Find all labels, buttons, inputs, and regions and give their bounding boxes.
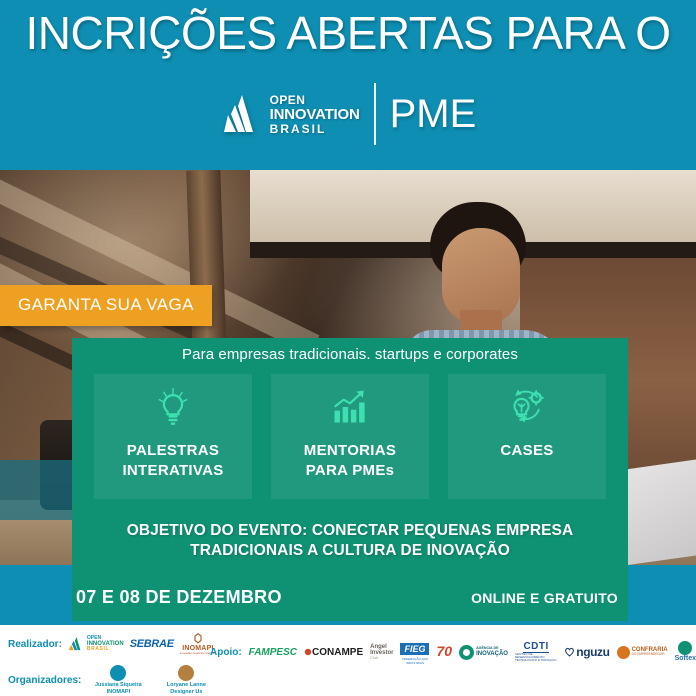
feature-label-line1: CASES bbox=[500, 442, 553, 459]
feature-cards: PALESTRAS INTERATIVAS MENTORI bbox=[72, 374, 628, 499]
fieg-text: FIEG bbox=[400, 643, 429, 655]
brand-lockup: OPEN INNOVATION BRASIL PME bbox=[0, 83, 696, 145]
nguzu-text: nguzu bbox=[576, 645, 609, 659]
objective-line1: OBJETIVO DO EVENTO: CONECTAR PEQUENAS EM… bbox=[127, 522, 574, 539]
logo-fieg: FIEG FEDERAÇÃO DAS INDÚSTRIAS bbox=[400, 639, 429, 665]
brand-line-1: OPEN bbox=[270, 94, 360, 106]
organizer-item: Jussiana Siqueira INOMAPI bbox=[87, 665, 149, 696]
event-mode: ONLINE E GRATUITO bbox=[471, 590, 618, 606]
logo-open-innovation-brasil: OPEN INNOVATION BRASIL bbox=[68, 636, 124, 652]
realizador-row: Realizador: OPEN INNOVATION BRASIL SEBRA… bbox=[8, 633, 216, 655]
feature-label-line2: INTERATIVAS bbox=[122, 462, 223, 479]
confraria-wordmark: CONFRARIA DO EMPREENDEDOR bbox=[632, 647, 668, 657]
conampe-text: CONAMPE bbox=[312, 647, 363, 658]
organizer-name: Jussiana Siqueira INOMAPI bbox=[95, 682, 142, 696]
logo-confraria: CONFRARIA DO EMPREENDEDOR bbox=[617, 646, 668, 659]
logo-70-anos: 70 bbox=[436, 643, 452, 661]
feature-card-cases[interactable]: CASES bbox=[448, 374, 606, 499]
brand-wordmark: OPEN INNOVATION BRASIL bbox=[270, 94, 360, 135]
apoio-label: Apoio: bbox=[210, 647, 242, 658]
realizador-label: Realizador: bbox=[8, 639, 62, 650]
feature-card-label: MENTORIAS PARA PMEs bbox=[304, 441, 396, 481]
logo-nguzu: nguzu bbox=[564, 645, 609, 659]
cdti-sub: CENTRO DE DESENVOLVIMENTO TECNOLÓGICO E … bbox=[515, 653, 557, 662]
lightbulb-gear-cycle-icon bbox=[506, 386, 548, 428]
logo-fampesc: FAMPESC bbox=[249, 647, 297, 658]
organizer-item: Loryane Lanne Designer Ux bbox=[155, 665, 217, 696]
headline-text: INCRIÇÕES ABERTAS PARA O bbox=[0, 4, 696, 62]
logo-sebrae: SEBRAE bbox=[130, 638, 174, 650]
panel-subtitle: Para empresas tradicionais. startups e c… bbox=[72, 346, 628, 363]
fieg-sub: FEDERAÇÃO DAS INDÚSTRIAS bbox=[400, 657, 429, 665]
panel-footer-row: 07 E 08 DE DEZEMBRO ONLINE E GRATUITO bbox=[72, 587, 628, 608]
feature-card-label: CASES bbox=[500, 441, 553, 461]
apoio-row: Apoio: FAMPESC CONAMPE Angel Investor Cl… bbox=[210, 639, 696, 665]
angel-line3: Club bbox=[370, 656, 393, 660]
objective-text: OBJETIVO DO EVENTO: CONECTAR PEQUENAS EM… bbox=[72, 521, 628, 561]
oib-line3: BRASIL bbox=[87, 647, 124, 652]
feature-label-line1: PALESTRAS bbox=[127, 442, 219, 459]
feature-card-palestras[interactable]: PALESTRAS INTERATIVAS bbox=[94, 374, 252, 499]
organizadores-row: Organizadores: Jussiana Siqueira INOMAPI… bbox=[8, 665, 217, 696]
logo-cdti: CDTI CENTRO DE DESENVOLVIMENTO TECNOLÓGI… bbox=[515, 642, 557, 663]
objective-line2: TRADICIONAIS A CULTURA DE INOVAÇÃO bbox=[190, 542, 510, 559]
logo-angel-investor-club: Angel Investor Club bbox=[370, 644, 393, 661]
organizer-role-text: INOMAPI bbox=[107, 689, 131, 695]
oib-wordmark-small: OPEN INNOVATION BRASIL bbox=[87, 636, 124, 652]
organizer-name-text: Jussiana Siqueira bbox=[95, 682, 142, 688]
logo-softex: Softex bbox=[675, 641, 696, 663]
softex-mark bbox=[678, 641, 692, 655]
brand-line-2: INNOVATION bbox=[270, 107, 360, 122]
logo-agencia-de-inovacao: AGÊNCIA DE INOVAÇÃO bbox=[459, 645, 508, 660]
event-poster: INCRIÇÕES ABERTAS PARA O OPEN INNOVATION… bbox=[0, 0, 696, 696]
feature-card-mentorias[interactable]: MENTORIAS PARA PMEs bbox=[271, 374, 429, 499]
softex-text: Softex bbox=[675, 655, 696, 663]
brand-line-3: BRASIL bbox=[270, 123, 360, 135]
agencia-wordmark: AGÊNCIA DE INOVAÇÃO bbox=[476, 647, 508, 657]
brand-suffix-pme: PME bbox=[390, 92, 477, 137]
organizer-name-text: Loryane Lanne bbox=[167, 682, 206, 688]
logo-conampe: CONAMPE bbox=[304, 647, 363, 658]
bar-chart-growth-icon bbox=[329, 386, 371, 428]
agencia-line2: INOVAÇÃO bbox=[476, 651, 508, 657]
organizadores-label: Organizadores: bbox=[8, 675, 81, 686]
seventy-text: 70 bbox=[436, 643, 452, 659]
mountain-wave-icon bbox=[220, 92, 264, 136]
confraria-sub: DO EMPREENDEDOR bbox=[632, 653, 668, 656]
avatar bbox=[110, 665, 126, 681]
feature-label-line1: MENTORIAS bbox=[304, 442, 396, 459]
sponsors-footer: Realizador: OPEN INNOVATION BRASIL SEBRA… bbox=[0, 625, 696, 696]
ring-icon bbox=[459, 645, 474, 660]
organizer-name: Loryane Lanne Designer Ux bbox=[167, 682, 206, 696]
garanta-sua-vaga-button[interactable]: GARANTA SUA VAGA bbox=[0, 285, 212, 326]
info-panel: Para empresas tradicionais. startups e c… bbox=[72, 338, 628, 621]
brand-divider bbox=[374, 83, 376, 145]
avatar bbox=[178, 665, 194, 681]
poster-header: INCRIÇÕES ABERTAS PARA O OPEN INNOVATION… bbox=[0, 0, 696, 170]
feature-label-line2: PARA PMEs bbox=[306, 462, 395, 479]
confraria-mark bbox=[617, 646, 630, 659]
event-date: 07 E 08 DE DEZEMBRO bbox=[76, 587, 282, 608]
lightbulb-icon bbox=[152, 386, 194, 428]
feature-card-label: PALESTRAS INTERATIVAS bbox=[122, 441, 223, 481]
organizer-role-text: Designer Ux bbox=[170, 689, 202, 695]
